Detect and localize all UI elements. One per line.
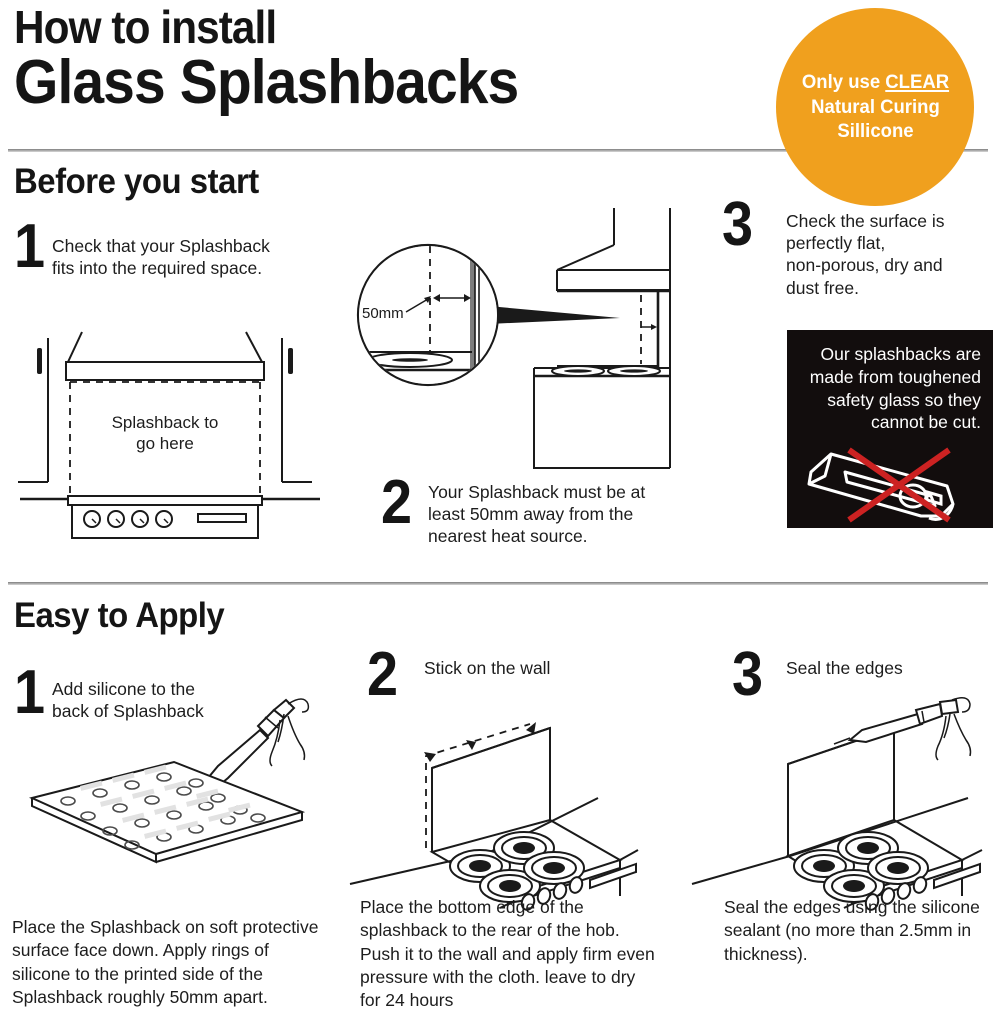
clear-silicone-badge: Only use CLEAR Natural Curing Sillicone bbox=[776, 8, 974, 206]
badge-line-1-emphasis: CLEAR bbox=[885, 71, 949, 93]
before-step-1-text: Check that your Splashback fits into the… bbox=[52, 235, 302, 279]
apply-step-2-diagram bbox=[358, 680, 688, 880]
apply-step-3-diagram bbox=[700, 680, 1000, 880]
page-title-line-2: Glass Splashbacks bbox=[14, 52, 518, 114]
before-step-3-text: Check the surface is perfectly flat, non… bbox=[786, 210, 998, 299]
utility-knife-crossed-out-icon bbox=[801, 442, 981, 524]
section-heading-before-you-start: Before you start bbox=[14, 164, 259, 199]
divider-middle bbox=[8, 582, 988, 585]
apply-step-1-caption: Place the Splashback on soft protective … bbox=[12, 916, 332, 1009]
badge-line-1-prefix: Only use bbox=[801, 71, 884, 93]
section-heading-easy-to-apply: Easy to Apply bbox=[14, 598, 224, 633]
apply-step-1-diagram bbox=[22, 690, 332, 890]
badge-line-3: Sillicone bbox=[837, 120, 913, 142]
before-step-1-diagram: Splashback to go here bbox=[30, 310, 330, 540]
before-step-1-number: 1 bbox=[14, 222, 45, 273]
apply-step-2-text: Stick on the wall bbox=[424, 657, 654, 679]
info-box-toughened-glass: Our splashbacks are made from toughened … bbox=[787, 330, 993, 528]
badge-text: Only use CLEAR Natural Curing Sillicone bbox=[801, 70, 948, 145]
before-step-2-number: 2 bbox=[381, 478, 412, 529]
svg-text:Splashback to: Splashback to bbox=[112, 413, 219, 432]
apply-step-3-text: Seal the edges bbox=[786, 657, 996, 679]
svg-text:50mm: 50mm bbox=[362, 305, 404, 322]
info-box-text: Our splashbacks are made from toughened … bbox=[787, 330, 993, 434]
apply-step-2-caption: Place the bottom edge of the splashback … bbox=[360, 896, 660, 1012]
before-step-2-text: Your Splashback must be at least 50mm aw… bbox=[428, 481, 684, 548]
before-step-3-number: 3 bbox=[722, 200, 753, 251]
before-step-2-diagram: 50mm bbox=[352, 200, 702, 475]
apply-step-3-caption: Seal the edges using the silicone sealan… bbox=[724, 896, 986, 966]
svg-text:go here: go here bbox=[136, 434, 194, 453]
badge-line-2: Natural Curing bbox=[811, 96, 940, 118]
page-title-line-1: How to install bbox=[14, 4, 276, 50]
